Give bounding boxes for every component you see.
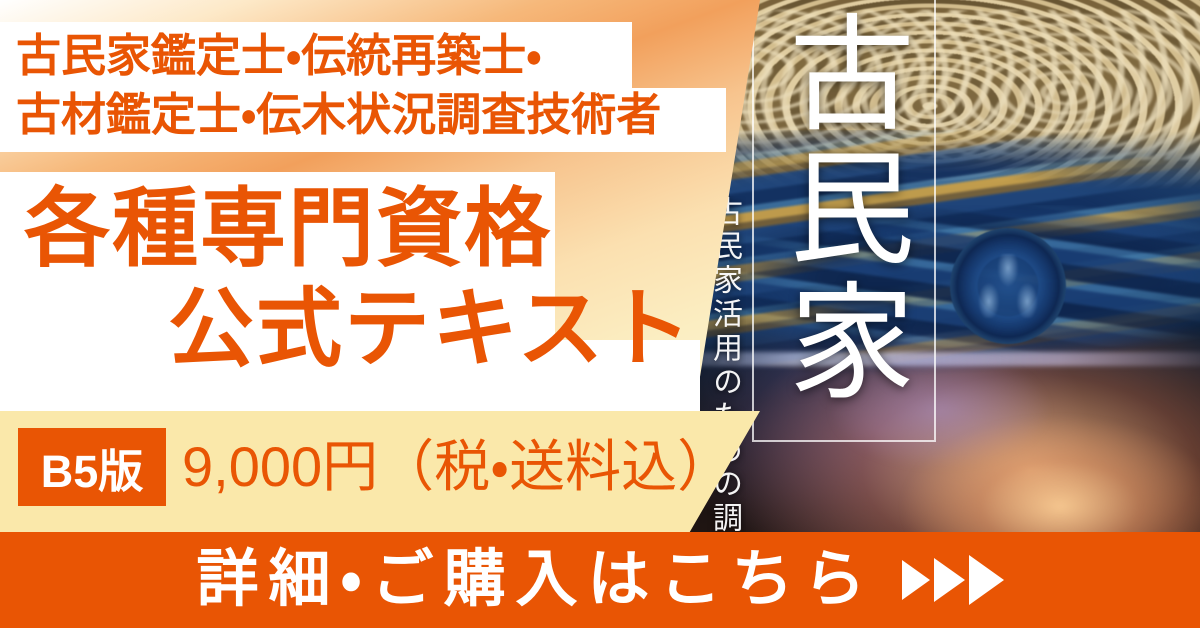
- cta-label: 詳細・ご購入はこちら: [196, 549, 875, 611]
- size-badge: B5版: [18, 428, 166, 506]
- headline-line-1: 古民家鑑定士・伝統再築士・: [16, 26, 726, 85]
- promo-banner: 伝統構法 古民家 古民家活用のための調査と再生の 古民家鑑定士・伝統再築士・ 古…: [0, 0, 1200, 628]
- cta-bar[interactable]: 詳細・ご購入はこちら: [0, 532, 1200, 628]
- headline-text: 古民家鑑定士・伝統再築士・ 古材鑑定士・伝木状況調査技術者: [16, 26, 726, 144]
- headline-line-2: 古材鑑定士・伝木状況調査技術者: [16, 85, 726, 144]
- play-triangle-icon-3: [969, 555, 1004, 605]
- price-text: 9,000円（税・送料込）: [182, 432, 733, 502]
- family-crest-medallion: [950, 228, 1066, 344]
- cta-arrow-group: [902, 555, 1004, 605]
- play-triangle-icon-2: [934, 558, 965, 602]
- title-line-1: 各種専門資格: [24, 186, 552, 272]
- title-line-2: 公式テキスト: [168, 286, 693, 372]
- play-triangle-icon-1: [902, 560, 930, 600]
- book-cover-title: 古民家: [770, 8, 910, 410]
